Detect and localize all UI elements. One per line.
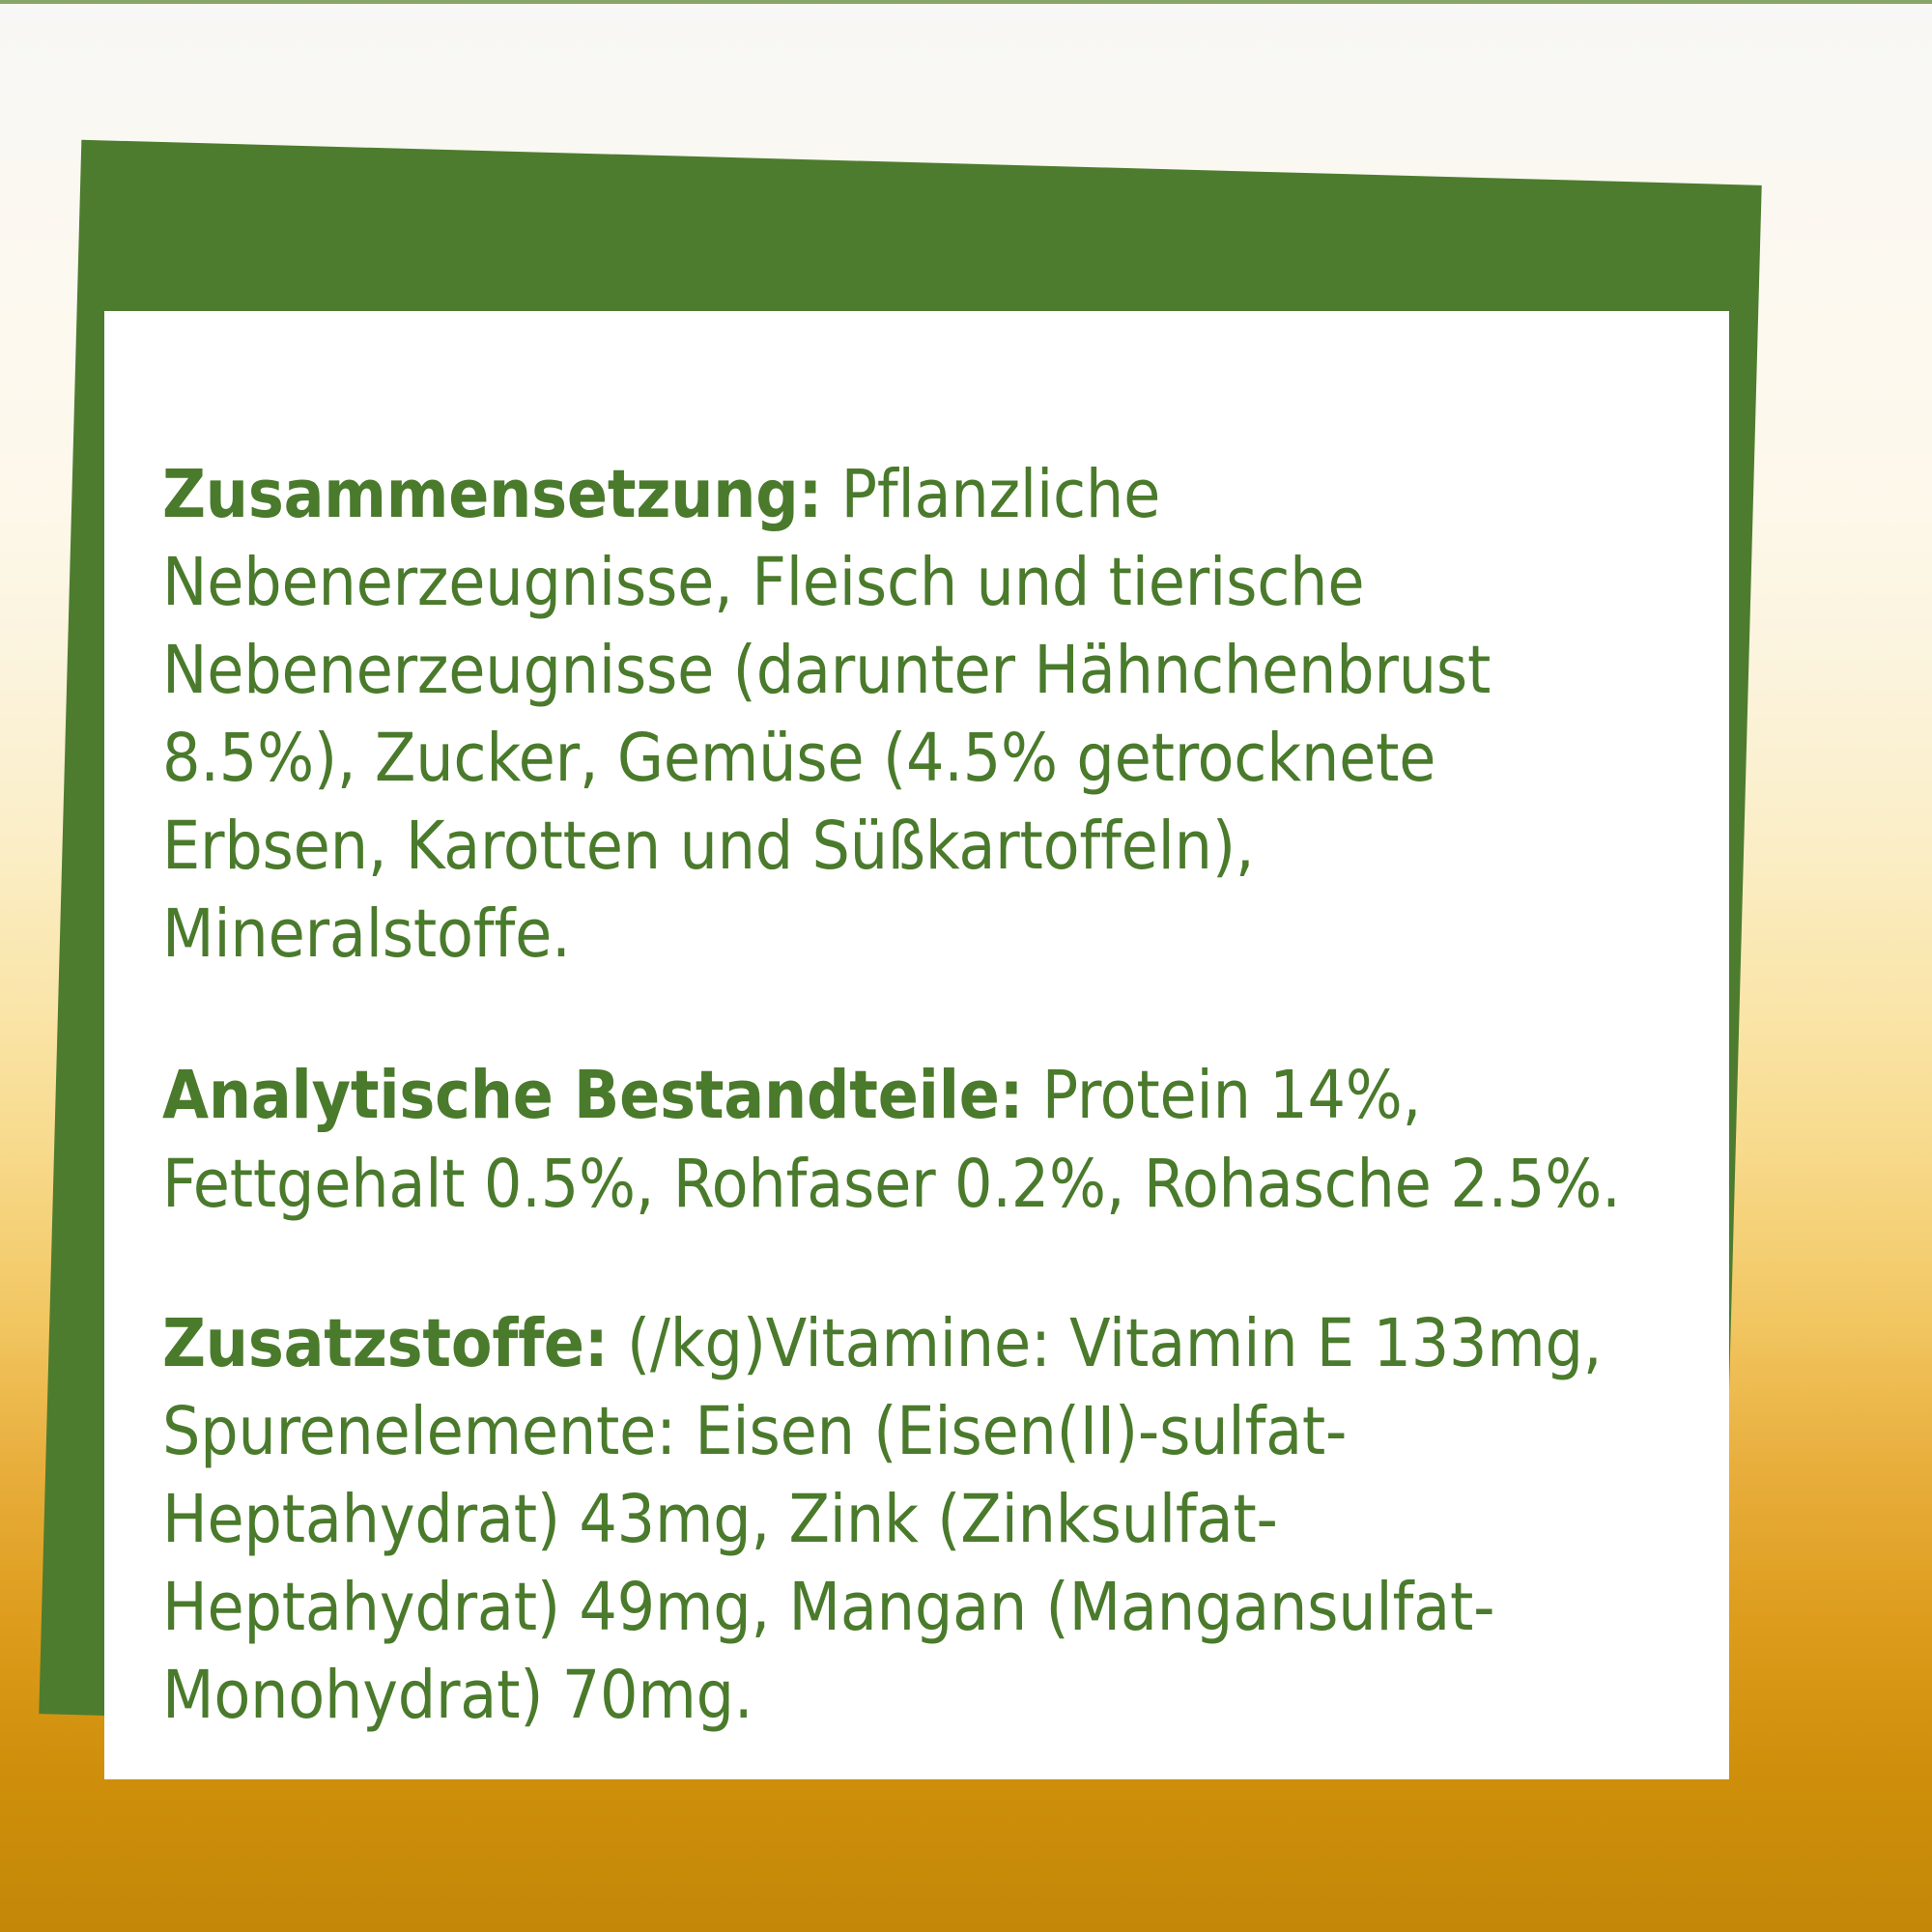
composition-paragraph: Zusammensetzung: Pflanzliche Nebenerzeug… (162, 451, 1592, 979)
composition-body: Pflanzliche Nebenerzeugnisse, Fleisch un… (162, 456, 1491, 973)
white-info-card: Zusammensetzung: Pflanzliche Nebenerzeug… (104, 311, 1729, 1779)
top-hairline-divider (0, 0, 1932, 4)
analytical-constituents-heading: Analytische Bestandteile: (162, 1057, 1023, 1134)
additives-paragraph: Zusatzstoffe: (/kg)Vitamine: Vitamin E 1… (162, 1300, 1640, 1740)
composition-heading: Zusammensetzung: (162, 456, 822, 533)
product-label-panel: Zusammensetzung: Pflanzliche Nebenerzeug… (0, 0, 1932, 1932)
analytical-constituents-paragraph: Analytische Bestandteile: Protein 14%, F… (162, 1052, 1669, 1228)
label-text-content: Zusammensetzung: Pflanzliche Nebenerzeug… (162, 451, 1679, 1740)
additives-heading: Zusatzstoffe: (162, 1305, 608, 1382)
